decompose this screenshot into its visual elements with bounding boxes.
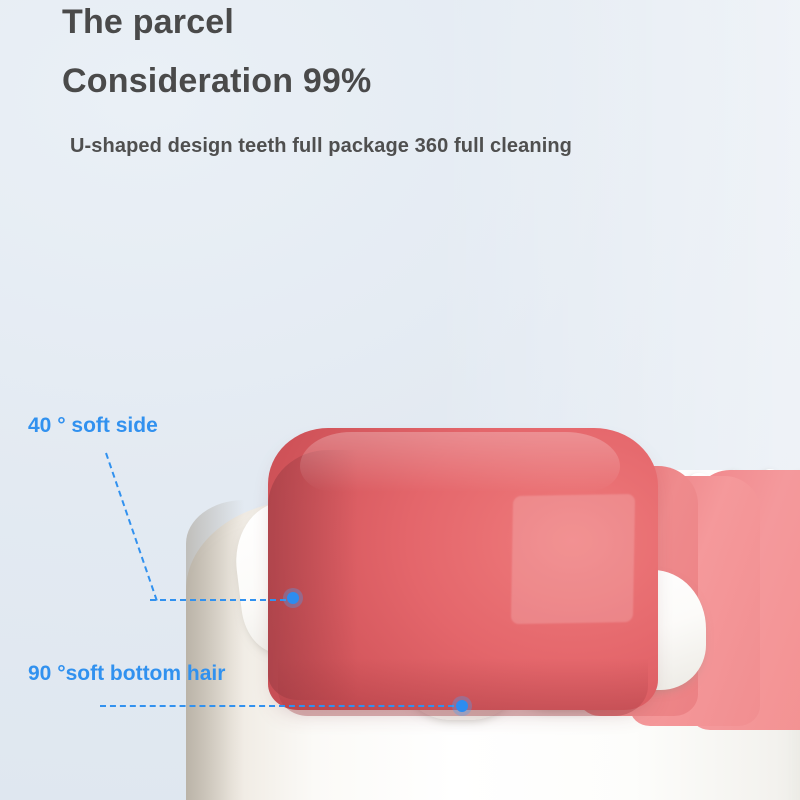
leader-line-soft-bottom-hair bbox=[100, 705, 464, 707]
product-feature-image: The parcel Consideration 99% U-shaped de… bbox=[0, 0, 800, 800]
gum-top-sheen bbox=[300, 432, 620, 492]
headline-line-1: The parcel bbox=[62, 3, 234, 42]
headline-line-2: Consideration 99% bbox=[62, 62, 371, 101]
callout-dot-soft-bottom-hair bbox=[452, 696, 472, 716]
mouthpiece-left-shadow bbox=[186, 500, 244, 800]
leader-line-soft-side-horizontal bbox=[150, 599, 296, 601]
gum-specular-highlight bbox=[511, 494, 635, 624]
annotation-label-soft-side: 40 ° soft side bbox=[28, 414, 158, 438]
subheadline: U-shaped design teeth full package 360 f… bbox=[70, 135, 572, 158]
callout-dot-soft-side bbox=[283, 588, 303, 608]
annotation-label-soft-bottom-hair: 90 °soft bottom hair bbox=[28, 662, 225, 686]
